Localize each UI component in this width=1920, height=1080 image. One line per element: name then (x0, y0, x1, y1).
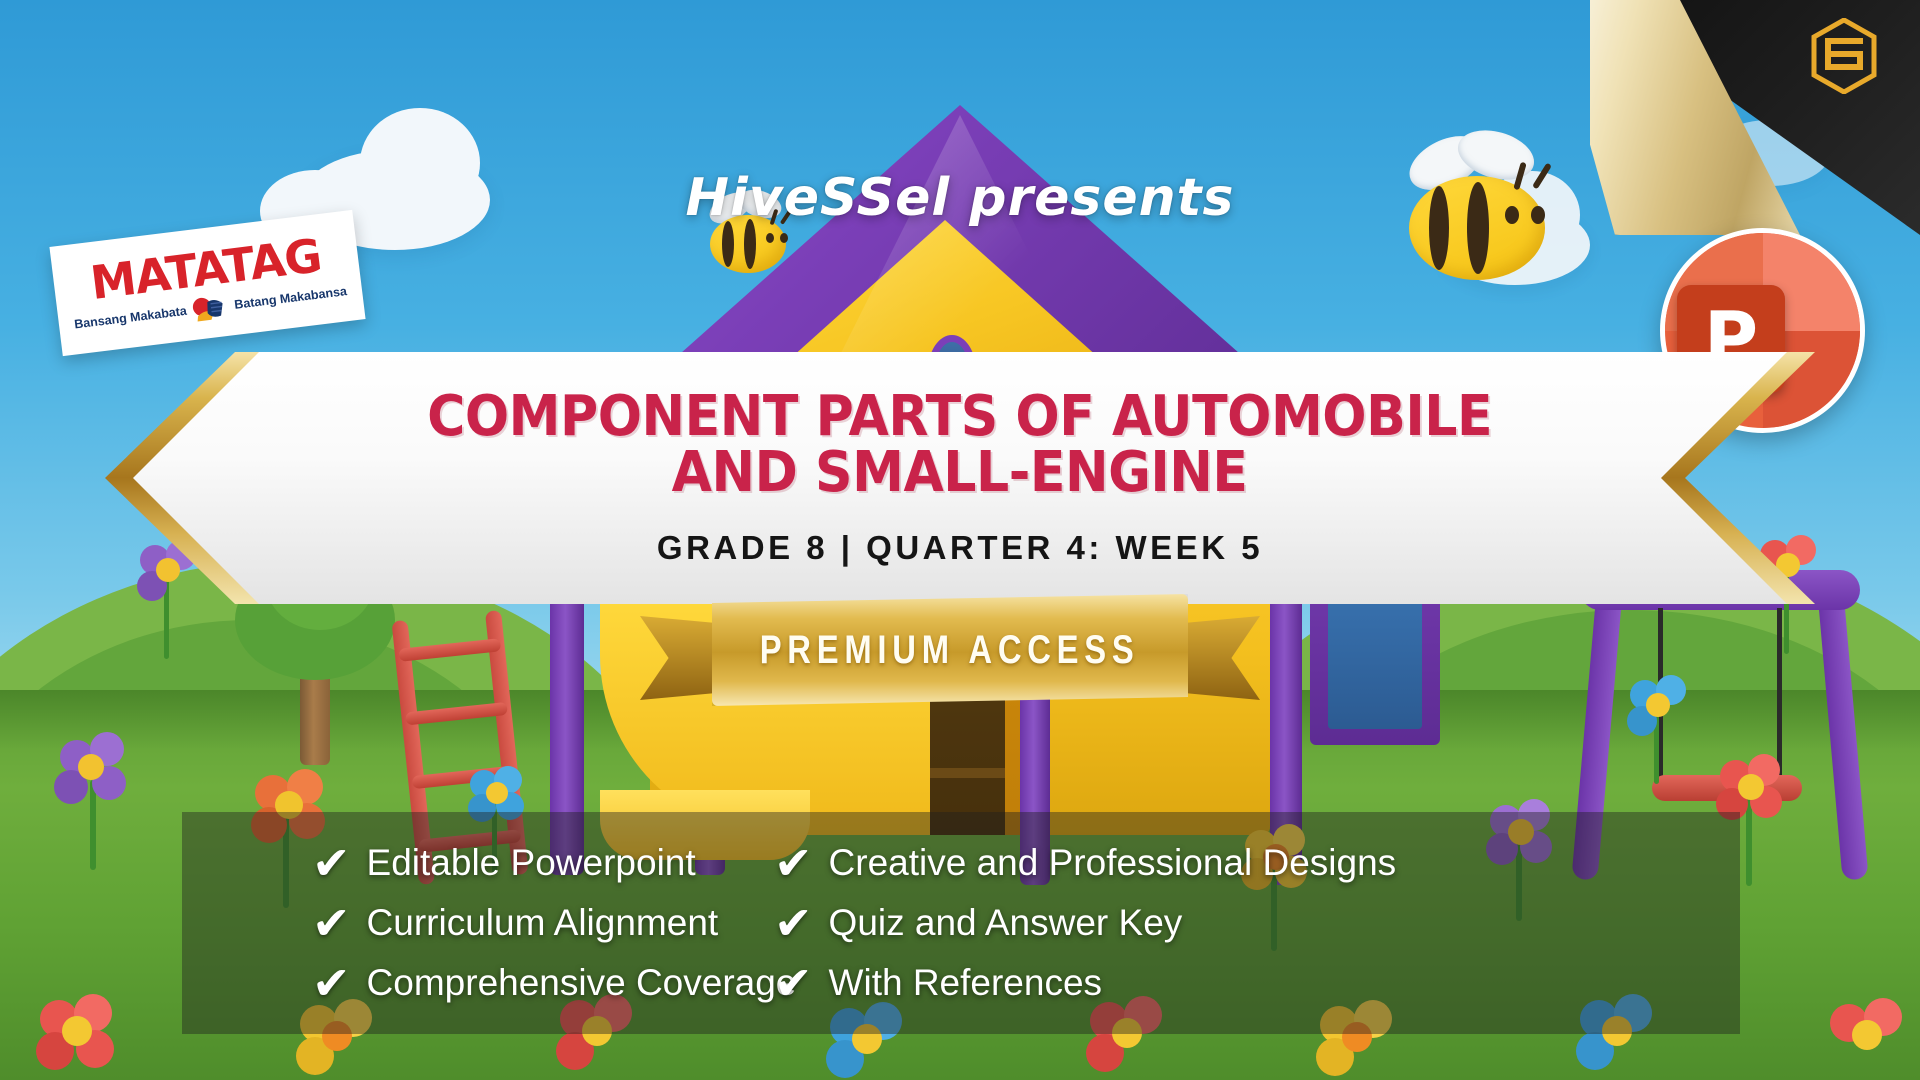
feature-item: ✔ Creative and Professional Designs (774, 840, 1502, 886)
lesson-meta: GRADE 8 | QUARTER 4: WEEK 5 (657, 529, 1263, 567)
clasped-hands-icon (189, 292, 232, 323)
feature-label: Comprehensive Coverage (367, 962, 797, 1004)
poster-canvas: HiveSSel presents MATATAG Bansang Makaba… (0, 0, 1920, 1080)
feature-label: Quiz and Answer Key (829, 902, 1183, 944)
premium-access-ribbon: PREMIUM ACCESS (640, 588, 1260, 718)
feature-column-left: ✔ Editable Powerpoint ✔ Curriculum Align… (182, 840, 742, 1006)
feature-item: ✔ Editable Powerpoint (312, 840, 742, 886)
feature-item: ✔ Curriculum Alignment (312, 900, 742, 946)
feature-column-right: ✔ Creative and Professional Designs ✔ Qu… (742, 840, 1502, 1006)
feature-label: With References (829, 962, 1103, 1004)
hexagon-logo-icon (1810, 18, 1878, 94)
check-icon: ✔ (312, 960, 351, 1006)
feature-item: ✔ Comprehensive Coverage (312, 960, 742, 1006)
check-icon: ✔ (774, 960, 813, 1006)
premium-access-label: PREMIUM ACCESS (760, 628, 1140, 673)
feature-item: ✔ With References (774, 960, 1502, 1006)
feature-label: Editable Powerpoint (367, 842, 696, 884)
feature-label: Curriculum Alignment (367, 902, 719, 944)
lesson-title-line2: AND SMALL-ENGINE (427, 445, 1492, 501)
check-icon: ✔ (312, 900, 351, 946)
feature-item: ✔ Quiz and Answer Key (774, 900, 1502, 946)
lesson-title: COMPONENT PARTS OF AUTOMOBILE AND SMALL-… (427, 389, 1492, 501)
check-icon: ✔ (774, 900, 813, 946)
matatag-tagline-left: Bansang Makabata (73, 303, 187, 331)
title-banner: COMPONENT PARTS OF AUTOMOBILE AND SMALL-… (105, 352, 1815, 604)
feature-label: Creative and Professional Designs (829, 842, 1397, 884)
feature-list-band: ✔ Editable Powerpoint ✔ Curriculum Align… (182, 812, 1740, 1034)
check-icon: ✔ (312, 840, 351, 886)
check-icon: ✔ (774, 840, 813, 886)
lesson-title-line1: COMPONENT PARTS OF AUTOMOBILE (427, 389, 1492, 445)
